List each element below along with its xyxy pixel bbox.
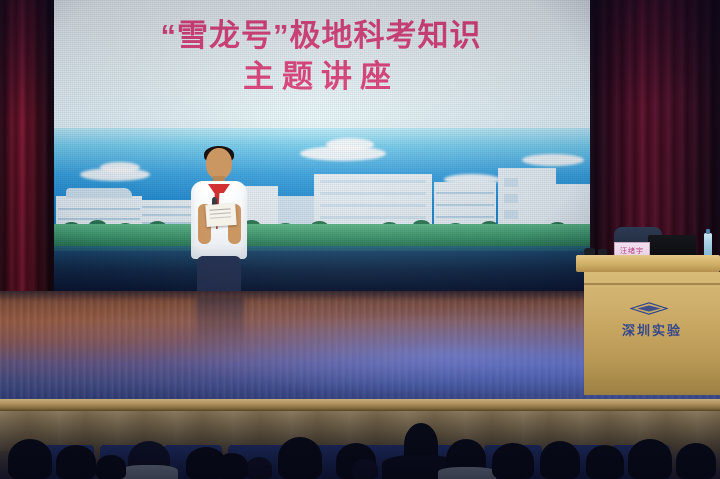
audience-head xyxy=(246,457,272,479)
title-line-2: 主题讲座 xyxy=(52,57,590,98)
audience-head xyxy=(352,459,378,479)
audience-shoulders xyxy=(438,467,496,479)
nameplate-text: 汪绪宇 xyxy=(620,246,644,256)
building-stripe xyxy=(142,206,192,208)
cloud xyxy=(522,154,584,166)
paper-script xyxy=(205,203,236,227)
podium-surface xyxy=(576,255,720,272)
head xyxy=(206,148,232,179)
led-screen: “雪龙号”极地科考知识 主题讲座 xyxy=(52,0,590,291)
window xyxy=(504,210,518,219)
building-stripe xyxy=(142,214,192,216)
audience-head xyxy=(216,453,248,479)
audience-head xyxy=(540,441,580,479)
campus-building-roof xyxy=(66,188,132,198)
audience-area xyxy=(0,411,720,479)
building-stripe xyxy=(436,216,494,218)
building-stripe xyxy=(436,204,494,206)
stage-front-edge xyxy=(0,399,720,411)
podium: 汪绪宇 深圳实验 xyxy=(576,255,720,395)
podium-front-panel: 深圳实验 xyxy=(584,272,720,395)
stage-curtain-left xyxy=(0,0,54,300)
screen-lower-shadow xyxy=(52,251,590,291)
audience-head xyxy=(628,439,672,479)
cloud xyxy=(326,138,374,151)
balcony-curve xyxy=(320,204,426,207)
audience-shoulders xyxy=(120,465,178,479)
balcony-curve xyxy=(320,192,426,195)
balcony-curve xyxy=(320,180,426,183)
cloud xyxy=(100,162,140,173)
sports-field xyxy=(52,224,590,246)
title-line-1: “雪龙号”极地科考知识 xyxy=(52,16,590,57)
audience-head xyxy=(8,439,52,479)
water-bottle xyxy=(704,233,712,257)
audience-head xyxy=(56,445,96,479)
school-emblem-icon xyxy=(630,302,668,315)
audience-head xyxy=(492,443,534,479)
building-stripe xyxy=(58,208,140,210)
window xyxy=(504,178,518,187)
audience-head xyxy=(676,443,716,479)
laptop xyxy=(648,235,696,257)
auditorium-photo: “雪龙号”极地科考知识 主题讲座 xyxy=(0,0,720,479)
audience-head xyxy=(278,437,322,479)
window xyxy=(504,194,518,203)
podium-school-name: 深圳实验 xyxy=(606,320,698,339)
audience-head xyxy=(96,455,126,479)
balcony-curve xyxy=(320,216,426,219)
presentation-title: “雪龙号”极地科考知识 主题讲座 xyxy=(52,16,590,98)
speaker-reflection xyxy=(196,297,244,355)
building-stripe xyxy=(436,192,494,194)
audience-head xyxy=(586,445,624,479)
